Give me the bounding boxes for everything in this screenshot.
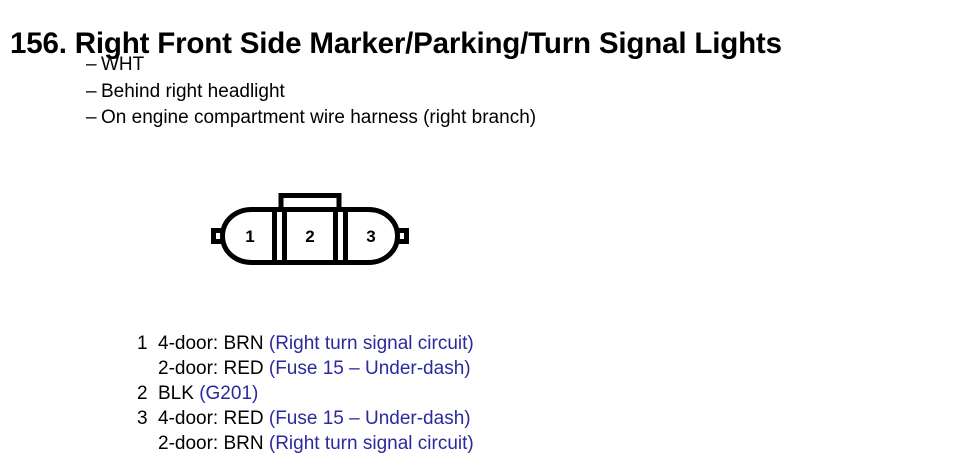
legend-pin-number: 3 [137, 406, 158, 431]
list-item: 2BLK (G201) [137, 381, 474, 406]
legend-circuit-name: (Fuse 15 – Under-dash) [269, 408, 471, 429]
note-text: On engine compartment wire harness (righ… [101, 107, 536, 128]
legend-line: 34-door: RED (Fuse 15 – Under-dash) [137, 406, 474, 431]
legend-wire-color: 2-door: RED [158, 358, 269, 379]
connector-diagram: 1 2 3 [205, 188, 415, 280]
legend-wire-color: 4-door: RED [158, 408, 269, 429]
legend-circuit-name: (Fuse 15 – Under-dash) [269, 358, 471, 379]
en-dash-icon: – [86, 105, 101, 132]
en-dash-icon: – [86, 52, 101, 79]
legend-wire-color: 4-door: BRN [158, 333, 269, 354]
connector-svg: 1 2 3 [205, 188, 415, 280]
legend-wire-color: 2-door: BRN [158, 433, 269, 454]
note-row: –On engine compartment wire harness (rig… [86, 105, 536, 132]
list-item: 14-door: BRN (Right turn signal circuit)… [137, 331, 474, 381]
cavity-number-3: 3 [366, 227, 375, 246]
legend-circuit-name: (G201) [199, 383, 258, 404]
list-item: 34-door: RED (Fuse 15 – Under-dash) 2-do… [137, 406, 474, 456]
cavity-number-1: 1 [245, 227, 254, 246]
legend-line: 2-door: RED (Fuse 15 – Under-dash) [137, 356, 474, 381]
note-text: Behind right headlight [101, 81, 285, 102]
note-row: –Behind right headlight [86, 79, 536, 106]
legend-pin-number: 2 [137, 381, 158, 406]
legend-pin-number: 1 [137, 331, 158, 356]
note-row: –WHT [86, 52, 536, 79]
legend-circuit-name: (Right turn signal circuit) [269, 333, 474, 354]
connector-notes-list: –WHT –Behind right headlight –On engine … [86, 52, 536, 132]
pin-legend-list: 14-door: BRN (Right turn signal circuit)… [137, 331, 474, 456]
legend-wire-color: BLK [158, 383, 199, 404]
legend-circuit-name: (Right turn signal circuit) [269, 433, 474, 454]
note-text: WHT [101, 54, 144, 75]
legend-line: 2BLK (G201) [137, 381, 474, 406]
en-dash-icon: – [86, 79, 101, 106]
cavity-number-2: 2 [305, 227, 314, 246]
legend-line: 14-door: BRN (Right turn signal circuit) [137, 331, 474, 356]
legend-line: 2-door: BRN (Right turn signal circuit) [137, 431, 474, 456]
